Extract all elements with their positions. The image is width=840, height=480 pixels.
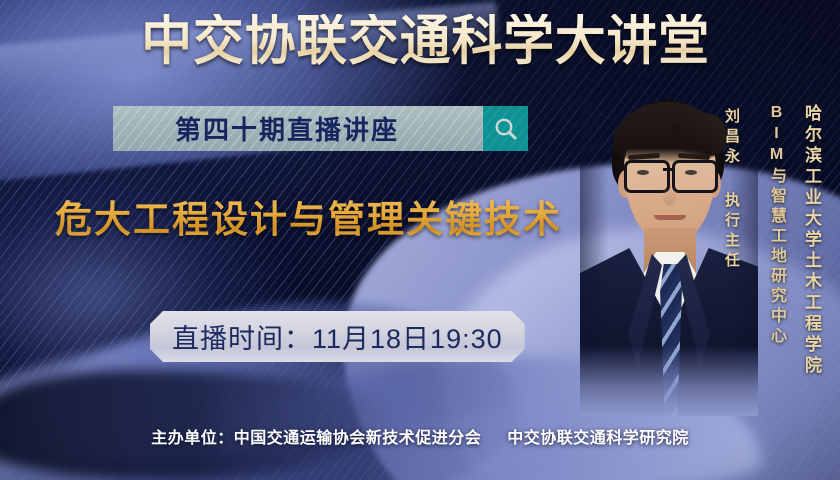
vignette-overlay	[0, 0, 840, 480]
webinar-poster: 中交协联交通科学大讲堂 第四十期直播讲座 危大工程设计与管理关键技术 直播时间：…	[0, 0, 840, 480]
search-icon	[493, 116, 519, 142]
episode-label: 第四十期直播讲座	[175, 110, 399, 147]
